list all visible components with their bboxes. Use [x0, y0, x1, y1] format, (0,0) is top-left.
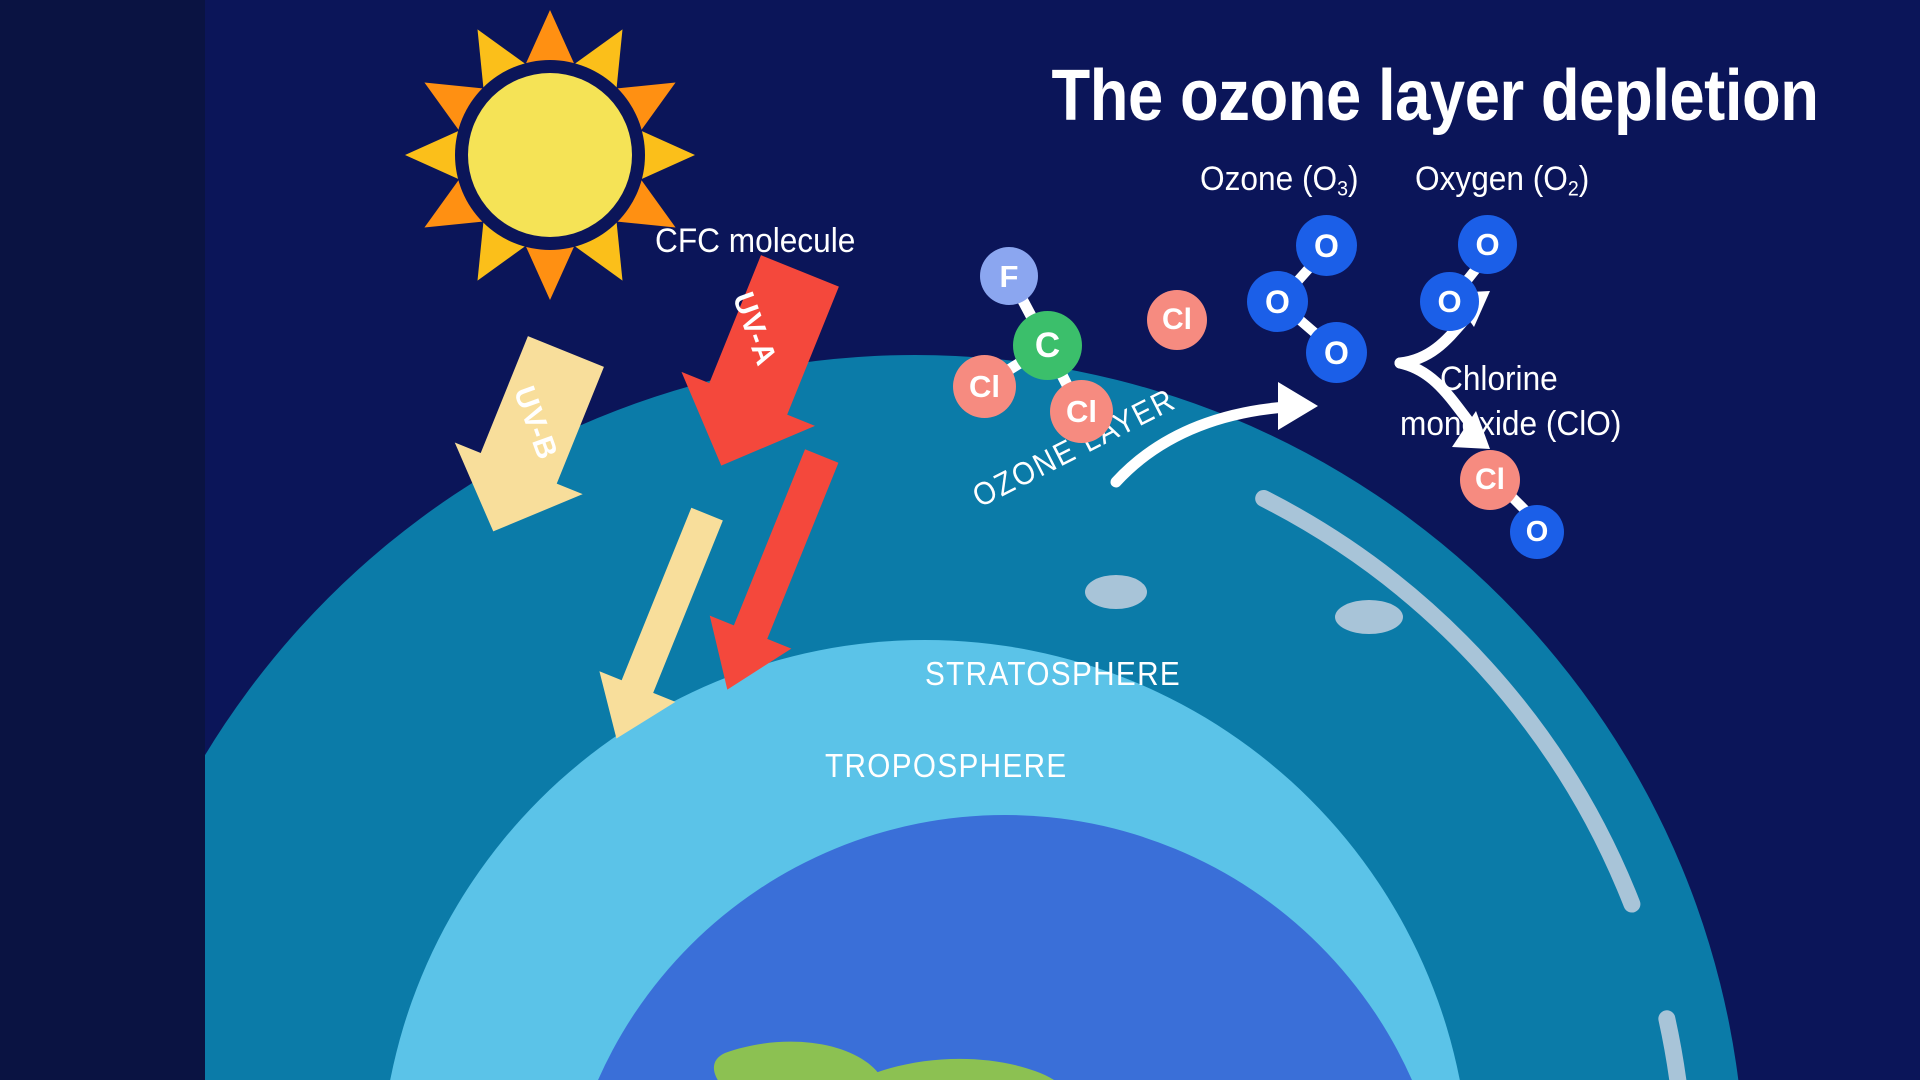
atom-symbol: O [1475, 229, 1499, 260]
atom-symbol: Cl [1066, 396, 1097, 427]
atom-symbol: O [1314, 230, 1339, 262]
atom-symbol: O [1437, 286, 1461, 317]
ozone-atom-2: O [1247, 271, 1308, 332]
uv-a-arrow-transmitted [745, 440, 1005, 740]
atom-symbol: O [1324, 337, 1349, 369]
ozone-atom-3: O [1306, 322, 1367, 383]
atom-symbol: C [1035, 328, 1060, 363]
earth-globe [565, 815, 1445, 1080]
sun-disc [468, 73, 632, 237]
oxygen-atom-1: O [1458, 215, 1517, 274]
cfc-atom-fluorine: F [980, 247, 1038, 305]
oxygen-label-subscript: 2 [1568, 177, 1579, 200]
cfc-atom-chlorine-2: Cl [1050, 380, 1113, 443]
ozone-gap-cloud-right [1335, 600, 1403, 634]
cfc-atom-carbon: C [1013, 311, 1082, 380]
chlorine-monoxide-label-line2: monoxide (ClO) [1400, 405, 1621, 444]
ozone-molecule-label: Ozone (O3) [1200, 160, 1359, 201]
cfc-molecule-label: CFC molecule [655, 222, 855, 261]
oxygen-atom-2: O [1420, 272, 1479, 331]
oxygen-label-tail: ) [1579, 160, 1590, 198]
ozone-label-tail: ) [1348, 160, 1359, 198]
infographic-canvas: UV-B UV-A [0, 0, 1920, 1080]
sun-ray [523, 10, 577, 70]
oxygen-label-text: Oxygen (O [1415, 160, 1568, 198]
oxygen-molecule-label: Oxygen (O2) [1415, 160, 1589, 201]
ozone-label-subscript: 3 [1337, 177, 1348, 200]
ozone-label-text: Ozone (O [1200, 160, 1337, 198]
clo-atom-oxygen: O [1510, 505, 1564, 559]
cfc-atom-chlorine-1: Cl [953, 355, 1016, 418]
chlorine-monoxide-label-line1: Chlorine [1440, 360, 1558, 399]
sun-ray [405, 128, 465, 182]
atom-symbol: O [1526, 518, 1549, 547]
atom-symbol: Cl [1475, 465, 1505, 495]
clo-atom-chlorine: Cl [1460, 450, 1520, 510]
infographic-panel: UV-B UV-A [205, 0, 1920, 1080]
troposphere-label: TROPOSPHERE [825, 747, 1068, 785]
uv-b-arrow: UV-B [350, 290, 680, 570]
page-title: The ozone layer depletion [1021, 55, 1848, 137]
atom-symbol: O [1265, 286, 1290, 318]
atom-symbol: Cl [969, 371, 1000, 402]
ozone-gap-cloud-left [1085, 575, 1147, 609]
sun-ray [635, 128, 695, 182]
stratosphere-label: STRATOSPHERE [925, 655, 1181, 693]
ozone-atom-1: O [1296, 215, 1357, 276]
atom-symbol: F [1000, 261, 1019, 292]
